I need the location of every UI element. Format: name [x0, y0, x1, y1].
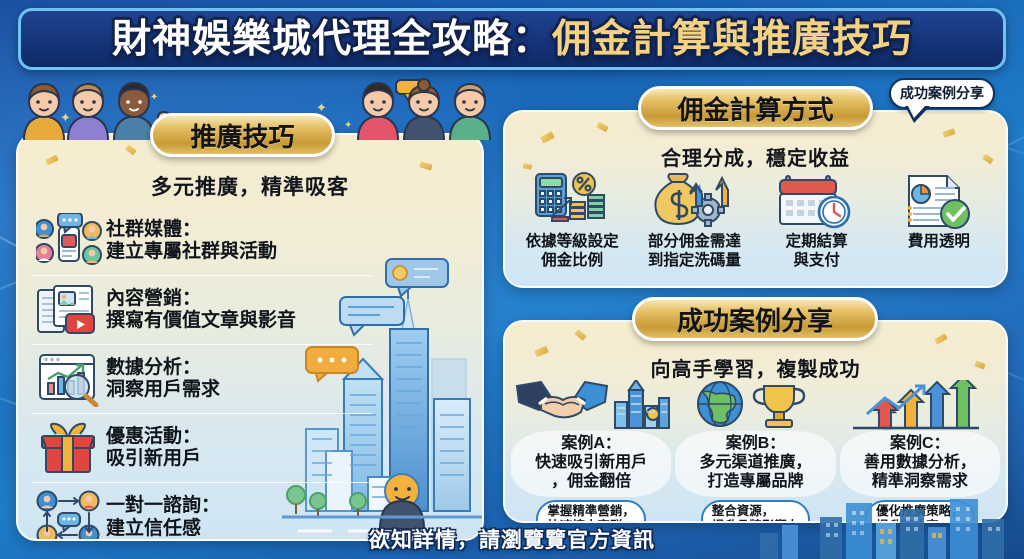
tip-line2: 撰寫有價值文章與影音 [106, 310, 296, 332]
page-title: 財神娛樂城代理全攻略：佣金計算與推廣技巧 [112, 20, 912, 59]
commission-section-badge: 佣金計算方式 [638, 86, 873, 130]
list-item[interactable]: 數據分析： 洞察用戶需求 [32, 345, 372, 414]
footer-note: 欲知詳情，請瀏覽覽官方資訊 [0, 524, 1024, 554]
tip-line1: 社群媒體： [106, 219, 201, 240]
confetti [125, 145, 137, 156]
tip-line1: 內容營銷： [106, 288, 201, 309]
social-network-icon [32, 210, 106, 272]
globe-trophy-icon [680, 380, 830, 430]
case-text-blob: 案例C： 善用數據分析， 精準洞察需求 [840, 431, 1000, 497]
case-title: 案例A： 快速吸引新用戶 ，佣金翻倍 [519, 435, 663, 492]
list-item[interactable]: 案例A： 快速吸引新用戶 ，佣金翻倍 掌握精準營銷， 快速擴大客群 [511, 380, 671, 523]
people-group-illustration [352, 78, 512, 140]
handshake-city-icon [511, 380, 671, 430]
data-analysis-icon [32, 348, 106, 410]
content-marketing-icon [32, 279, 106, 341]
commission-method-card: 合理分成，穩定收益 [503, 110, 1008, 288]
promotion-tip-list: 社群媒體： 建立專屬社群與活動 [32, 207, 372, 541]
confetti [45, 155, 58, 165]
cases-badge-label: 成功案例分享 [677, 301, 833, 338]
growth-arrows-icon [845, 380, 995, 430]
report-check-icon [899, 172, 979, 230]
money-bag-gear-icon [646, 172, 742, 230]
promotion-subtitle: 多元推廣，精準吸客 [18, 171, 482, 201]
list-item[interactable]: 內容營銷： 撰寫有價值文章與影音 [32, 276, 372, 345]
tip-line2: 吸引新用戶 [106, 448, 201, 470]
confetti [419, 161, 432, 170]
list-item[interactable]: 依據等級設定 佣金比例 [511, 172, 633, 270]
success-cases-callout-bubble[interactable]: 成功案例分享 [889, 78, 995, 109]
promotion-techniques-card: 多元推廣，精準吸客 [16, 133, 484, 541]
list-item[interactable]: 社群媒體： 建立專屬社群與活動 [32, 207, 372, 276]
cases-item-grid: 案例A： 快速吸引新用戶 ，佣金翻倍 掌握精準營銷， 快速擴大客群 [511, 380, 1000, 523]
list-item[interactable]: 費用透明 [878, 172, 1000, 270]
list-item-label: 費用透明 [908, 233, 970, 252]
list-item[interactable]: 案例C： 善用數據分析， 精準洞察需求 優化推廣策略， 提升轉化率 [840, 380, 1000, 523]
tip-line2: 建立專屬社群與活動 [106, 241, 277, 263]
tip-line1: 一對一諮詢： [106, 495, 220, 516]
list-item[interactable]: 案例B： 多元渠道推廣， 打造專屬品牌 整合資源， 提升品牌影響力 [675, 380, 835, 523]
list-item-text: 優惠活動： 吸引新用戶 [106, 426, 201, 471]
cases-section-badge: 成功案例分享 [632, 297, 878, 341]
tip-line2: 洞察用戶需求 [106, 379, 220, 401]
callout-label: 成功案例分享 [900, 85, 984, 101]
confetti [942, 128, 955, 137]
calculator-percent-icon [526, 172, 618, 230]
case-title: 案例B： 多元渠道推廣， 打造專屬品牌 [683, 435, 827, 492]
case-text-blob: 案例A： 快速吸引新用戶 ，佣金翻倍 [511, 431, 671, 497]
list-item-label: 依據等級設定 佣金比例 [526, 233, 619, 270]
commission-subtitle: 合理分成，穩定收益 [505, 142, 1006, 171]
list-item[interactable]: 定期結算 與支付 [756, 172, 878, 270]
list-item[interactable]: 部分佣金需達 到指定洗碼量 [633, 172, 755, 270]
list-item-label: 部分佣金需達 到指定洗碼量 [648, 233, 741, 270]
case-note-pill: 優化推廣策略， 提升轉化率 [865, 500, 975, 523]
promotion-badge-label: 推廣技巧 [190, 117, 294, 154]
list-item-text: 數據分析： 洞察用戶需求 [106, 357, 220, 402]
case-note-pill: 掌握精準營銷， 快速擴大客群 [536, 500, 646, 523]
calendar-clock-icon [774, 172, 860, 230]
tip-line1: 數據分析： [106, 357, 201, 378]
list-item-text: 社群媒體： 建立專屬社群與活動 [106, 219, 277, 264]
cases-subtitle: 向高手學習，複製成功 [505, 353, 1006, 382]
confetti [574, 329, 586, 341]
case-note-pill: 整合資源， 提升品牌影響力 [701, 500, 811, 523]
case-text-blob: 案例B： 多元渠道推廣， 打造專屬品牌 [675, 431, 835, 497]
promotion-section-badge: 推廣技巧 [150, 113, 335, 157]
list-item[interactable]: 優惠活動： 吸引新用戶 [32, 414, 372, 483]
gift-box-icon [32, 417, 106, 479]
confetti [596, 122, 609, 133]
poster-title-bar: 財神娛樂城代理全攻略：佣金計算與推廣技巧 [18, 8, 1006, 70]
list-item-label: 定期結算 與支付 [786, 233, 848, 270]
infographic-poster: ✦ ✦ ✦ ✦ ✦ 財神娛樂城代理全攻略：佣金計算與推廣技巧 [0, 0, 1024, 559]
commission-item-grid: 依據等級設定 佣金比例 [511, 172, 1000, 270]
case-title: 案例C： 善用數據分析， 精準洞察需求 [848, 435, 992, 492]
tip-line1: 優惠活動： [106, 426, 201, 447]
commission-badge-label: 佣金計算方式 [677, 90, 833, 127]
title-main-text: 財神娛樂城代理全攻略： [112, 18, 552, 61]
list-item-text: 內容營銷： 撰寫有價值文章與影音 [106, 288, 296, 333]
title-accent-text: 佣金計算與推廣技巧 [552, 18, 912, 61]
success-cases-card: 向高手學習，複製成功 [503, 320, 1008, 523]
confetti [934, 333, 947, 344]
